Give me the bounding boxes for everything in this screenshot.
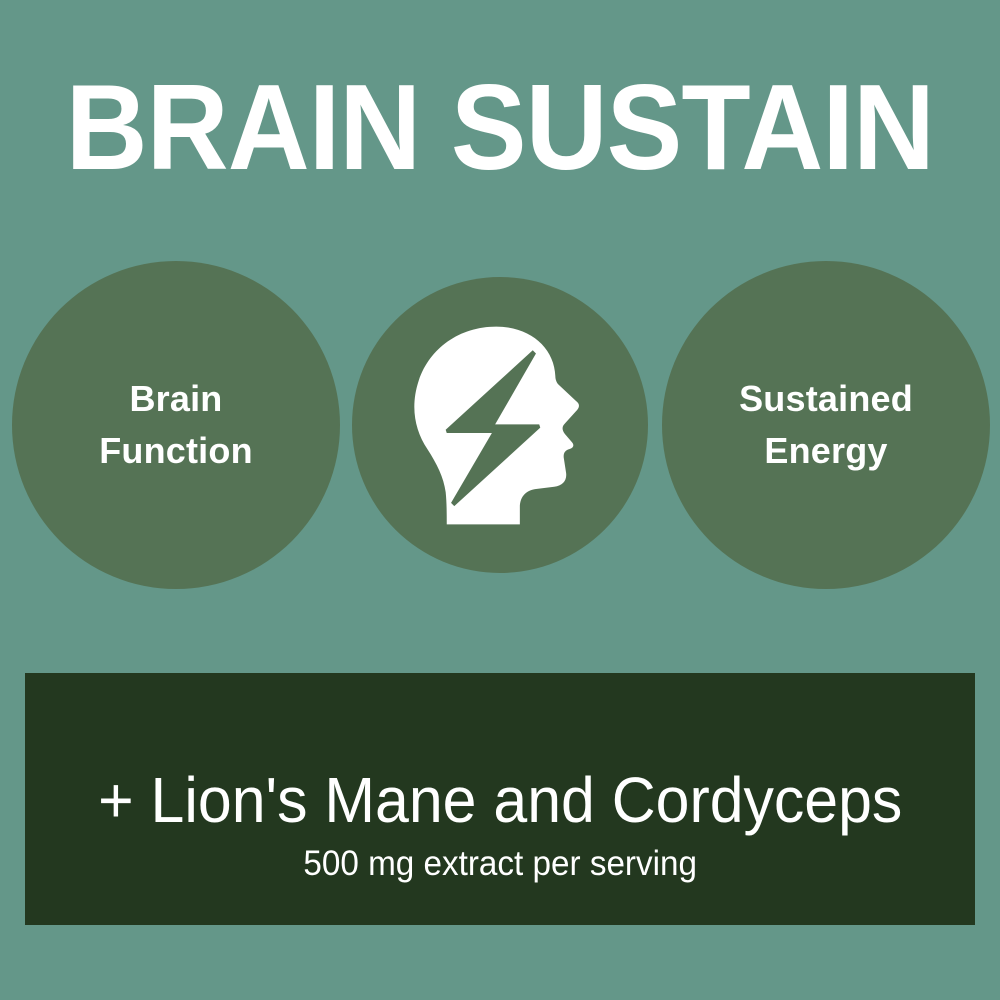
- benefit-circle-brain-function: Brain Function: [12, 261, 340, 589]
- benefit-label-line1: Brain: [129, 378, 222, 419]
- head-lightning-icon: [393, 318, 608, 533]
- benefit-label-line2: Function: [99, 430, 253, 471]
- benefit-circle-sustained-energy: Sustained Energy: [662, 261, 990, 589]
- ingredient-banner: + Lion's Mane and Cordyceps 500 mg extra…: [25, 673, 975, 925]
- page-title-container: BRAIN SUSTAIN: [0, 62, 1000, 192]
- benefit-circle-icon: [352, 277, 648, 573]
- benefit-label-line1: Sustained: [739, 378, 913, 419]
- benefit-circles-row: Brain Function Sustained Energy: [0, 261, 1000, 591]
- page-title: BRAIN SUSTAIN: [66, 66, 934, 188]
- benefit-label-sustained-energy: Sustained Energy: [739, 373, 913, 477]
- ingredient-headline: + Lion's Mane and Cordyceps: [98, 767, 902, 834]
- benefit-label-line2: Energy: [764, 430, 887, 471]
- product-poster: BRAIN SUSTAIN Brain Function Sustained E…: [0, 0, 1000, 1000]
- ingredient-dosage: 500 mg extract per serving: [303, 845, 697, 884]
- benefit-label-brain-function: Brain Function: [99, 373, 253, 477]
